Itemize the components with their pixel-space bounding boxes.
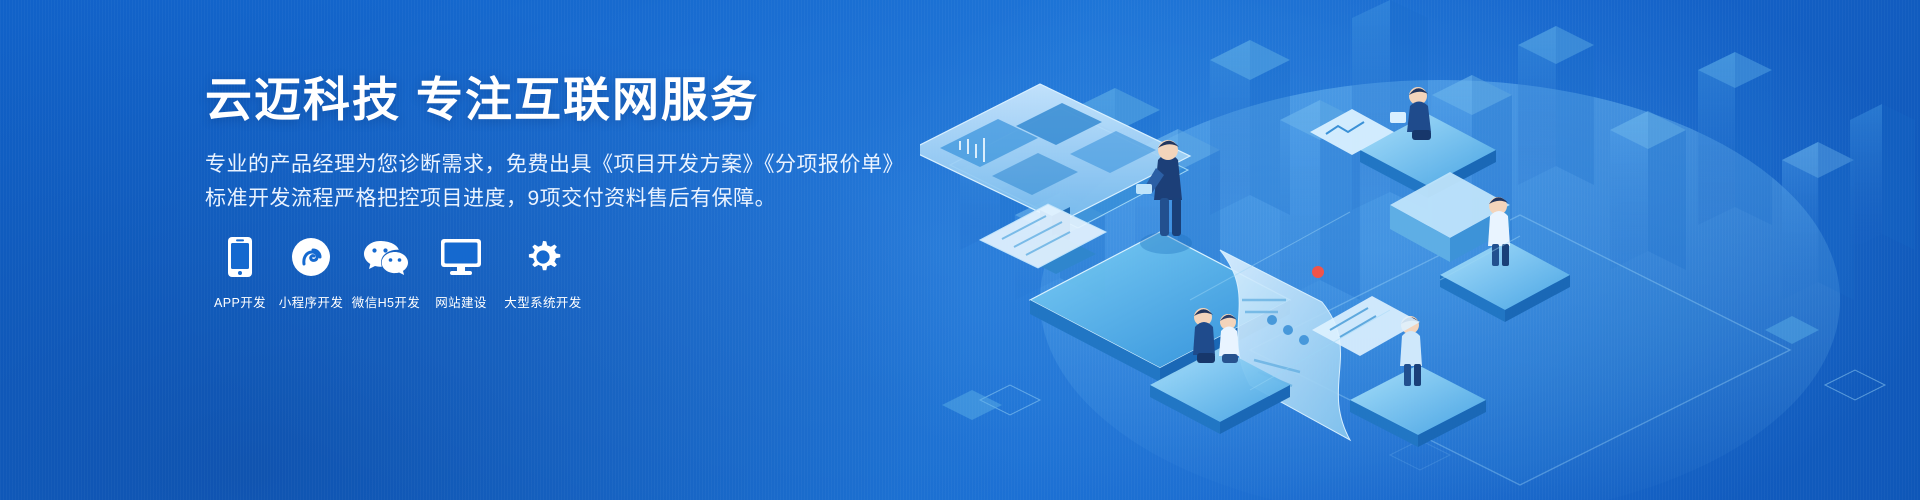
service-item-mini-program[interactable]: 小程序开发 (275, 234, 347, 311)
mini-program-icon (291, 234, 331, 280)
service-label-website: 网站建设 (435, 292, 487, 311)
hero-subtitle: 专业的产品经理为您诊断需求，免费出具《项目开发方案》《分项报价单》 标准开发流程… (205, 148, 925, 216)
gear-icon (522, 234, 564, 280)
service-item-wechat-h5[interactable]: 微信H5开发 (347, 234, 425, 311)
page-title: 云迈科技 专注互联网服务 (205, 72, 925, 128)
service-item-app[interactable]: APP开发 (205, 234, 275, 311)
service-list: APP开发 小程序开发 (205, 234, 589, 311)
isometric-tech-city-illustration (920, 0, 1920, 500)
service-item-website[interactable]: 网站建设 (425, 234, 497, 311)
mobile-phone-icon (227, 234, 253, 280)
service-label-large-system: 大型系统开发 (504, 292, 581, 311)
service-item-large-system[interactable]: 大型系统开发 (497, 234, 589, 311)
monitor-icon (440, 234, 482, 280)
subtitle-line-2: 标准开发流程严格把控项目进度，9项交付资料售后有保障。 (205, 182, 925, 216)
wechat-icon (363, 234, 409, 280)
service-label-app: APP开发 (214, 292, 266, 311)
hero-copy: 云迈科技 专注互联网服务 专业的产品经理为您诊断需求，免费出具《项目开发方案》《… (205, 72, 925, 216)
service-label-wechat-h5: 微信H5开发 (352, 292, 420, 311)
service-label-mini-program: 小程序开发 (279, 292, 344, 311)
hero-banner: 云迈科技 专注互联网服务 专业的产品经理为您诊断需求，免费出具《项目开发方案》《… (0, 0, 1920, 500)
subtitle-line-1: 专业的产品经理为您诊断需求，免费出具《项目开发方案》《分项报价单》 (205, 148, 925, 182)
